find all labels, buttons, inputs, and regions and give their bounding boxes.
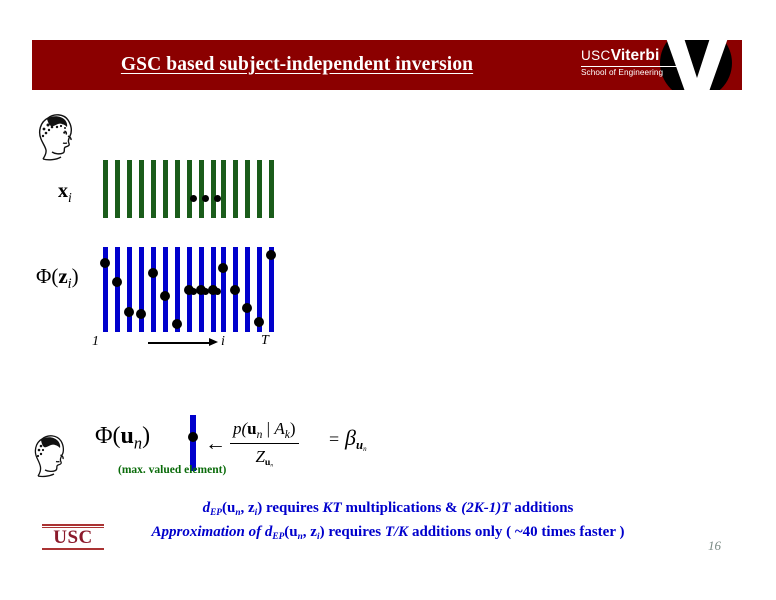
num-u: u	[247, 419, 256, 438]
selection-dot	[266, 250, 276, 260]
blue-bar	[269, 247, 274, 332]
ellipsis-dot	[214, 195, 221, 202]
c1-mult: multiplications &	[342, 500, 462, 516]
c1-d: d	[203, 500, 211, 516]
green-bar	[115, 160, 120, 218]
c1-sep: ,	[240, 500, 248, 516]
blue-bar	[151, 247, 156, 332]
selection-dot	[196, 285, 206, 295]
eq-lhs-close: )	[142, 423, 150, 449]
head-profile-icon	[30, 432, 72, 483]
blue-bar	[233, 247, 238, 332]
selection-dot	[112, 277, 122, 287]
c2-only: additions only ( ~40 times faster )	[408, 524, 624, 540]
den-sub-n: n	[270, 463, 273, 469]
c1-k2: (2K-1)T	[461, 500, 510, 516]
c1-d-sub: EP	[210, 508, 222, 518]
blue-bar	[163, 247, 168, 332]
blue-bar	[187, 247, 192, 332]
logo-viterbi-text: Viterbi	[611, 47, 660, 64]
den-Z: Z	[255, 447, 264, 466]
c1-requires: requires	[262, 500, 322, 516]
green-bar	[103, 160, 108, 218]
slide-canvas: GSC based subject-independent inversion …	[0, 0, 776, 600]
selection-dot	[148, 268, 158, 278]
eq-lhs-var: u	[121, 423, 134, 449]
c2-z: z	[310, 524, 317, 540]
logo-divider	[581, 66, 685, 67]
selection-dot	[172, 319, 182, 329]
row-x-var: x	[58, 180, 68, 202]
blue-bar	[127, 247, 132, 332]
c2-prefix: Approximation of	[152, 524, 265, 540]
num-close: )	[290, 419, 296, 438]
usc-logo-rule-bottom	[42, 548, 104, 550]
selection-dot	[184, 285, 194, 295]
selection-dot	[100, 258, 110, 268]
num-mid: |	[262, 419, 274, 438]
c2-d-sub: EP	[272, 532, 284, 542]
selection-dot	[242, 303, 252, 313]
header-banner: GSC based subject-independent inversion …	[32, 40, 742, 90]
equation-equals-sign: =	[329, 429, 339, 450]
usc-logo-text: USC	[42, 528, 104, 548]
head-profile-icon	[34, 110, 82, 167]
row-x-subscript: i	[68, 190, 72, 205]
green-bar	[187, 160, 192, 218]
blue-bar	[245, 247, 250, 332]
axis-label-end: T	[261, 333, 269, 349]
green-bar	[199, 160, 204, 218]
beta-sub: un	[356, 438, 367, 452]
usc-logo-rule-top	[42, 524, 104, 526]
selection-dot	[136, 309, 146, 319]
equation-fraction: p(un | Ak) Zun	[230, 419, 299, 469]
row-label-phi-z: Φ(zi)	[36, 264, 79, 293]
blue-bar	[221, 247, 226, 332]
ellipsis-dot	[190, 195, 197, 202]
green-bar	[127, 160, 132, 218]
fraction-numerator: p(un | Ak)	[230, 419, 299, 441]
blue-bar	[175, 247, 180, 332]
green-bar	[163, 160, 168, 218]
num-A: A	[274, 419, 284, 438]
row-label-x: xi	[58, 180, 72, 206]
max-valued-element-note: (max. valued element)	[118, 464, 226, 476]
usc-footer-logo: USC	[42, 524, 104, 550]
den-sub: un	[265, 457, 273, 468]
page-title: GSC based subject-independent inversion	[32, 40, 562, 90]
c1-kt: KT	[323, 500, 342, 516]
blue-bar	[211, 247, 216, 332]
c1-z: z	[248, 500, 255, 516]
green-bar	[151, 160, 156, 218]
equation-lhs: Φ(un)	[95, 423, 150, 454]
blue-bar	[257, 247, 262, 332]
ellipsis-dot	[214, 288, 221, 295]
green-bar	[233, 160, 238, 218]
selection-dot	[208, 285, 218, 295]
row-phi-subscript: i	[68, 276, 72, 292]
row-phi-open: Φ(	[36, 264, 58, 288]
green-bar	[175, 160, 180, 218]
beta-symbol: β	[345, 425, 356, 450]
logo-school-text: School of Engineering	[581, 69, 685, 77]
c1-add: additions	[510, 500, 573, 516]
axis-arrow-line	[148, 342, 210, 344]
green-bar	[257, 160, 262, 218]
row-phi-var: z	[58, 264, 67, 288]
axis-label-i: i	[221, 334, 225, 350]
page-number: 16	[708, 538, 721, 554]
green-bar	[139, 160, 144, 218]
ellipsis-green	[190, 195, 221, 202]
blue-bar	[139, 247, 144, 332]
ellipsis-dot	[190, 288, 197, 295]
axis-label-start: 1	[92, 334, 99, 350]
blue-bar	[199, 247, 204, 332]
logo-wordmark-line: USCViterbi	[581, 48, 685, 64]
eq-lhs-sub: n	[134, 434, 142, 453]
beta-sub-n: n	[363, 445, 367, 453]
c2-requires: requires	[325, 524, 385, 540]
selection-dot	[218, 263, 228, 273]
green-bar	[211, 160, 216, 218]
selection-dot	[160, 291, 170, 301]
fraction-denominator: Zun	[230, 446, 299, 468]
equation-blue-bar	[190, 415, 196, 471]
equation-beta: βun	[345, 425, 367, 453]
conclusion-line-1: dEP(un, zi) requires KT multiplications …	[0, 500, 776, 518]
logo-usc-text: USC	[581, 48, 611, 63]
ellipsis-dot	[202, 288, 209, 295]
equation-selection-dot	[188, 432, 198, 442]
blue-bar	[115, 247, 120, 332]
logo-text-block: USCViterbi School of Engineering	[581, 48, 685, 77]
green-bar	[245, 160, 250, 218]
selection-dot	[230, 285, 240, 295]
ellipsis-blue	[190, 288, 221, 295]
fraction-bar	[230, 443, 299, 444]
axis-arrow-head-icon	[209, 338, 218, 346]
selection-dot	[254, 317, 264, 327]
green-bar	[221, 160, 226, 218]
row-phi-close: )	[72, 264, 79, 288]
c2-tk: T/K	[385, 524, 408, 540]
green-bar	[269, 160, 274, 218]
beta-sub-u: u	[356, 438, 363, 452]
num-p: p(	[233, 419, 247, 438]
c2-u: u	[289, 524, 297, 540]
eq-lhs-open: Φ(	[95, 423, 121, 449]
blue-bar	[103, 247, 108, 332]
ellipsis-dot	[202, 195, 209, 202]
usc-viterbi-logo: USCViterbi School of Engineering	[567, 40, 742, 90]
equation-left-arrow-icon: ←	[205, 431, 226, 456]
selection-dot	[124, 307, 134, 317]
conclusion-line-2: Approximation of dEP(un, zi) requires T/…	[0, 524, 776, 542]
